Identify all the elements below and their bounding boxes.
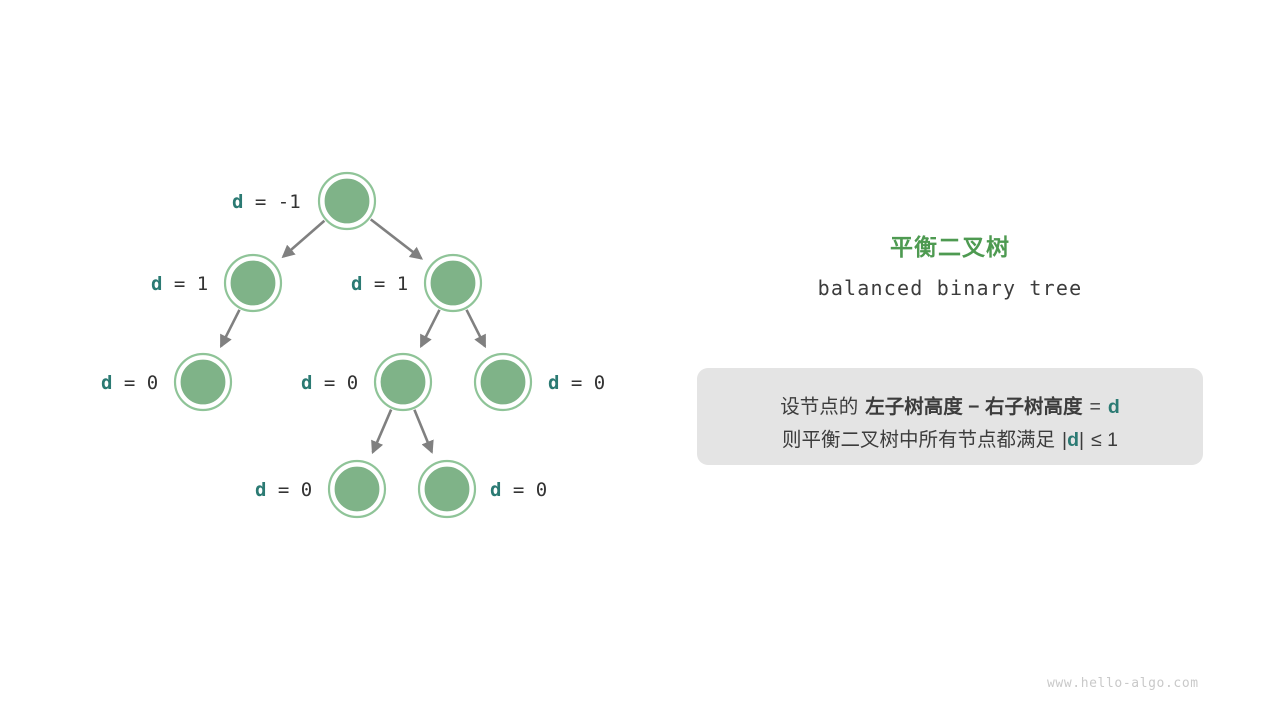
label-variable-d: d: [351, 273, 362, 295]
abs-bar-close: |: [1079, 429, 1084, 451]
node-balance-label: d = 0: [255, 479, 312, 501]
definition-line-2: 则平衡二叉树中所有节点都满足|d|≤ 1: [697, 423, 1203, 452]
node-disc: [430, 260, 477, 307]
label-variable-d: d: [255, 479, 266, 501]
label-variable-d: d: [301, 372, 312, 394]
tree-node: [419, 461, 475, 517]
node-disc: [334, 466, 381, 513]
tree-edge: [467, 310, 485, 347]
node-balance-label: d = -1: [232, 191, 301, 213]
tree-node: [425, 255, 481, 311]
node-disc: [424, 466, 471, 513]
node-disc: [480, 359, 527, 406]
tree-edge: [414, 410, 431, 452]
tree-edge: [221, 310, 239, 347]
label-value: = -1: [243, 191, 300, 213]
node-disc: [380, 359, 427, 406]
tree-edges: [221, 219, 485, 452]
legend-title: 平衡二叉树: [698, 228, 1202, 262]
legend-subtitle: balanced binary tree: [698, 276, 1202, 300]
label-value: = 1: [162, 273, 208, 295]
label-value: = 0: [266, 479, 312, 501]
node-balance-label: d = 0: [301, 372, 358, 394]
label-value: = 0: [501, 479, 547, 501]
tree-node: [329, 461, 385, 517]
tree-edge: [371, 219, 422, 258]
label-value: = 0: [312, 372, 358, 394]
node-balance-label: d = 1: [151, 273, 208, 295]
tree-edge: [283, 221, 324, 257]
label-variable-d: d: [548, 372, 559, 394]
tree-nodes: [175, 173, 531, 517]
node-balance-label: d = 0: [548, 372, 605, 394]
balanced-binary-tree-diagram: [0, 0, 1280, 720]
tree-node: [225, 255, 281, 311]
condition-prefix: 则平衡二叉树中所有节点都满足: [782, 429, 1055, 451]
label-variable-d: d: [151, 273, 162, 295]
label-value: = 0: [559, 372, 605, 394]
label-variable-d: d: [490, 479, 501, 501]
node-disc: [180, 359, 227, 406]
tree-edge: [373, 410, 391, 453]
tree-node: [175, 354, 231, 410]
definition-prefix: 设节点的: [780, 396, 858, 418]
label-value: = 0: [112, 372, 158, 394]
watermark: www.hello-algo.com: [1047, 676, 1199, 691]
condition-relation: ≤ 1: [1091, 429, 1118, 451]
label-variable-d: d: [232, 191, 243, 213]
node-disc: [230, 260, 277, 307]
condition-variable-d: d: [1067, 429, 1079, 451]
definition-equals: =: [1089, 396, 1100, 418]
node-balance-label: d = 1: [351, 273, 408, 295]
tree-node: [319, 173, 375, 229]
definition-variable-d: d: [1108, 396, 1120, 418]
label-variable-d: d: [101, 372, 112, 394]
tree-edge: [421, 310, 439, 347]
label-value: = 1: [362, 273, 408, 295]
tree-node: [475, 354, 531, 410]
definition-bold-term: 左子树高度 − 右子树高度: [865, 396, 1082, 418]
definition-box: 设节点的左子树高度 − 右子树高度=d 则平衡二叉树中所有节点都满足|d|≤ 1: [697, 368, 1203, 465]
node-disc: [324, 178, 371, 225]
node-balance-label: d = 0: [490, 479, 547, 501]
tree-node: [375, 354, 431, 410]
node-balance-label: d = 0: [101, 372, 158, 394]
definition-line-1: 设节点的左子树高度 − 右子树高度=d: [697, 390, 1203, 419]
